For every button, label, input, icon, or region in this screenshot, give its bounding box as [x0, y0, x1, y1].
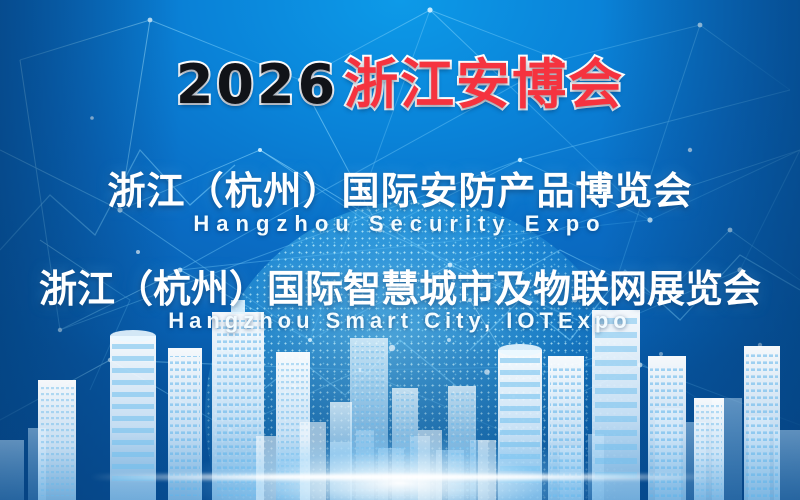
event-poster: 2026浙江安博会 浙江（杭州）国际安防产品博览会 Hangzhou Secur… [0, 0, 800, 500]
page-title: 2026浙江安博会 [0, 58, 800, 112]
expo-line-2-en: Hangzhou Smart City, IOTExpo [0, 308, 800, 334]
expo-line-1-cn: 浙江（杭州）国际安防产品博览会 [0, 160, 800, 215]
title-year: 2026 [176, 53, 338, 116]
poster-text-content: 2026浙江安博会 浙江（杭州）国际安防产品博览会 Hangzhou Secur… [0, 0, 800, 500]
expo-line-2-cn: 浙江（杭州）国际智慧城市及物联网展览会 [0, 258, 800, 313]
title-event-name: 浙江安博会 [344, 55, 624, 115]
expo-line-1-en: Hangzhou Security Expo [0, 211, 800, 237]
